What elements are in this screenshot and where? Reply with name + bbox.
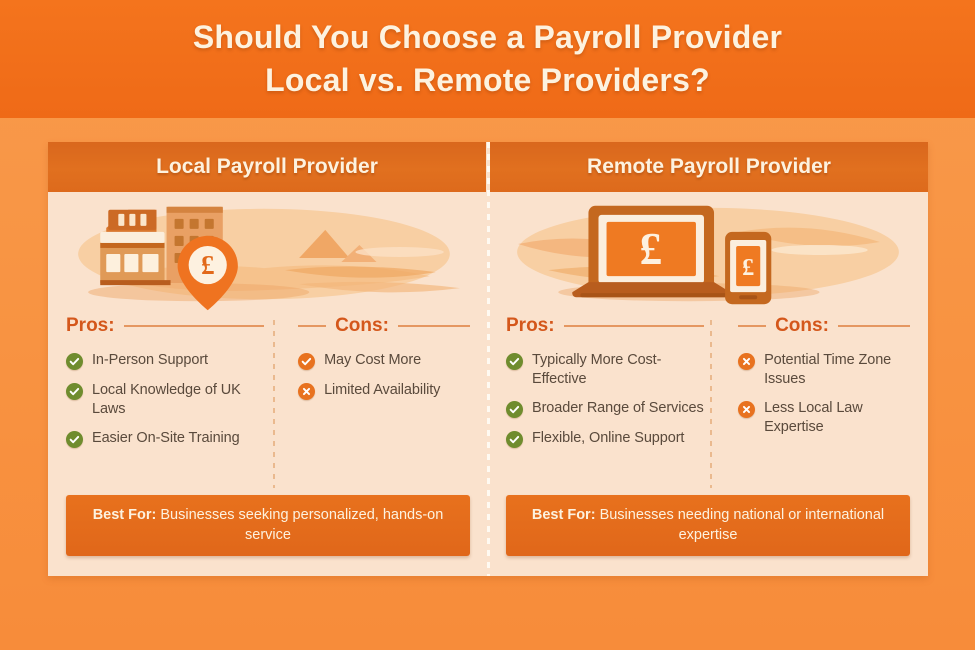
cons-section-remote: Cons: Potential Time Zone Issues	[716, 314, 910, 495]
list-item-label: Broader Range of Services	[532, 399, 704, 418]
best-for-text: Businesses needing national or internati…	[600, 507, 885, 542]
column-header-label: Remote Payroll Provider	[587, 155, 831, 179]
list-item: May Cost More	[298, 351, 470, 370]
pros-section-local: Pros: In-Person Support	[66, 314, 276, 495]
list-item: Less Local Law Expertise	[738, 399, 910, 436]
check-circle-orange-icon	[298, 353, 315, 370]
list-item-label: In-Person Support	[92, 351, 208, 370]
list-item-label: Limited Availability	[324, 381, 440, 400]
best-for-bar-remote: Best For: Businesses needing national or…	[506, 495, 910, 556]
list-item: Potential Time Zone Issues	[738, 351, 910, 388]
list-item: In-Person Support	[66, 351, 264, 370]
list-item-label: Typically More Cost-Effective	[532, 351, 704, 388]
cons-heading-local: Cons:	[298, 314, 470, 338]
list-item-label: Easier On-Site Training	[92, 429, 240, 448]
cons-rule-right	[398, 325, 470, 327]
list-item-label: Flexible, Online Support	[532, 429, 684, 448]
list-item: Flexible, Online Support	[506, 429, 704, 448]
list-item: Typically More Cost-Effective	[506, 351, 704, 388]
title-line-2: Local vs. Remote Providers?	[265, 59, 710, 102]
best-for-text: Businesses seeking personalized, hands-o…	[160, 507, 443, 542]
title-line-1: Should You Choose a Payroll Provider	[193, 16, 782, 59]
pros-heading-local: Pros:	[66, 314, 264, 338]
cons-rule-left	[298, 325, 326, 327]
svg-text:£: £	[639, 224, 662, 274]
column-remote-payroll-provider: Remote Payroll Provider	[488, 142, 928, 576]
best-for-label: Best For:	[93, 507, 157, 523]
cons-section-local: Cons: May Cost More	[276, 314, 470, 495]
list-item: Easier On-Site Training	[66, 429, 264, 448]
pros-section-remote: Pros: Typically More Cost-Effective	[506, 314, 716, 495]
cons-label: Cons:	[335, 315, 389, 337]
list-item-label: Less Local Law Expertise	[764, 399, 910, 436]
pros-heading-remote: Pros:	[506, 314, 704, 338]
pros-rule	[564, 325, 705, 327]
cons-heading-remote: Cons:	[738, 314, 910, 338]
pros-list-remote: Typically More Cost-Effective Broader Ra…	[506, 351, 704, 448]
list-item: Local Knowledge of UK Laws	[66, 381, 264, 418]
svg-text:£: £	[201, 250, 215, 280]
best-for-wrap-local: Best For: Businesses seeking personalize…	[48, 495, 488, 576]
best-for-wrap-remote: Best For: Businesses needing national or…	[488, 495, 928, 576]
list-item-label: May Cost More	[324, 351, 421, 370]
center-dashed-divider	[487, 142, 490, 576]
pros-list-local: In-Person Support Local Knowledge of UK …	[66, 351, 264, 448]
list-item: Broader Range of Services	[506, 399, 704, 418]
pros-cons-body-remote: Pros: Typically More Cost-Effective	[488, 314, 928, 495]
cons-label: Cons:	[775, 315, 829, 337]
check-circle-green-icon	[506, 401, 523, 418]
pros-rule	[124, 325, 265, 327]
infographic-poster: Should You Choose a Payroll Provider Loc…	[0, 0, 975, 650]
title-band: Should You Choose a Payroll Provider Loc…	[0, 0, 975, 118]
best-for-label: Best For:	[532, 507, 596, 523]
x-circle-orange-icon	[298, 383, 315, 400]
cons-list-remote: Potential Time Zone Issues Less Local La…	[738, 351, 910, 436]
x-circle-orange-icon	[738, 401, 755, 418]
best-for-bar-local: Best For: Businesses seeking personalize…	[66, 495, 470, 556]
check-circle-green-icon	[66, 353, 83, 370]
illustration-laptop-smartphone-pound-icon: £ £	[488, 192, 928, 314]
list-item: Limited Availability	[298, 381, 470, 400]
comparison-panel: Local Payroll Provider	[48, 142, 928, 576]
list-item-label: Potential Time Zone Issues	[764, 351, 910, 388]
pros-cons-body-local: Pros: In-Person Support	[48, 314, 488, 495]
svg-text:£: £	[742, 255, 754, 281]
pros-label: Pros:	[66, 315, 115, 337]
pros-label: Pros:	[506, 315, 555, 337]
x-circle-orange-icon	[738, 353, 755, 370]
column-header-local: Local Payroll Provider	[48, 142, 486, 192]
check-circle-green-icon	[66, 431, 83, 448]
column-header-label: Local Payroll Provider	[156, 155, 378, 179]
cons-rule-left	[738, 325, 766, 327]
check-circle-green-icon	[506, 353, 523, 370]
check-circle-green-icon	[66, 383, 83, 400]
check-circle-green-icon	[506, 431, 523, 448]
list-item-label: Local Knowledge of UK Laws	[92, 381, 264, 418]
cons-list-local: May Cost More Limited Availability	[298, 351, 470, 400]
cons-rule-right	[838, 325, 910, 327]
column-header-remote: Remote Payroll Provider	[490, 142, 928, 192]
column-local-payroll-provider: Local Payroll Provider	[48, 142, 488, 576]
illustration-storefront-building-map-pin-pound-icon: £	[48, 192, 488, 314]
